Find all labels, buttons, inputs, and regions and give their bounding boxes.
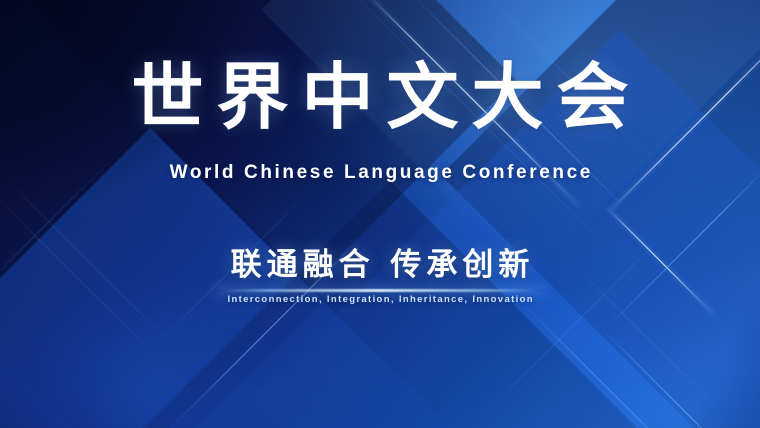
slogan-glow-bar [215,289,545,292]
conference-poster: 世界中文大会 World Chinese Language Conference… [0,0,760,428]
poster-content: 世界中文大会 World Chinese Language Conference… [0,0,760,428]
slogan-chinese: 联通融合 传承创新 [0,248,760,284]
slogan-block: 联通融合 传承创新 Interconnection, Integration, … [0,248,760,304]
page-subtitle: World Chinese Language Conference [0,163,760,182]
slogan-english: Interconnection, Integration, Inheritanc… [0,295,760,305]
page-title: 世界中文大会 [0,61,760,133]
